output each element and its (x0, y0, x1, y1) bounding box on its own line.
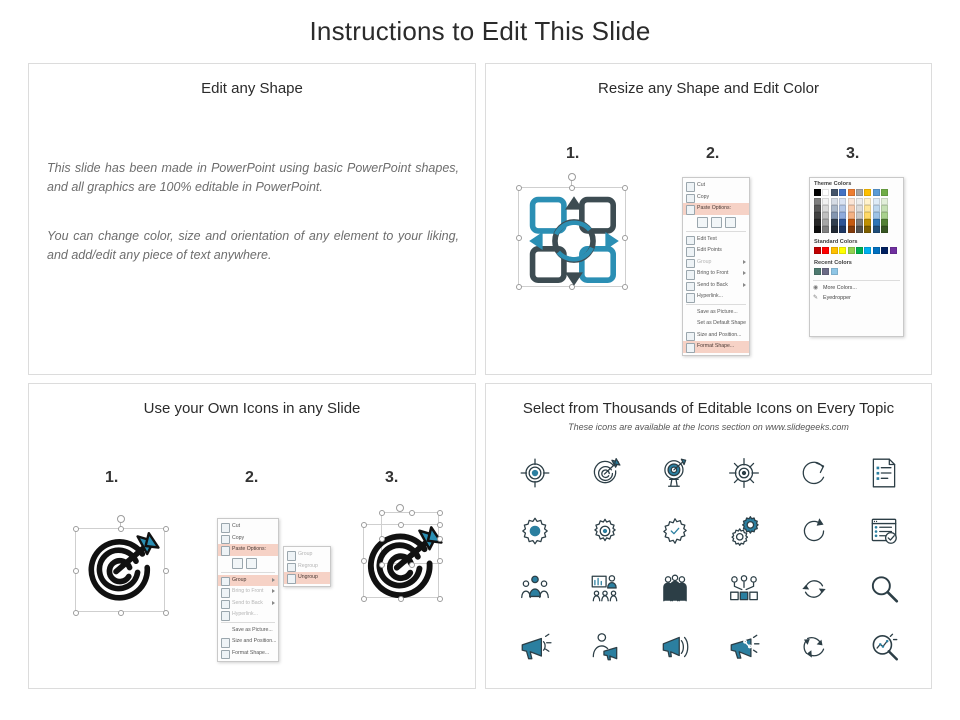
theme-shade-3-0[interactable] (839, 198, 846, 205)
edit-shape-paragraph-2: You can change color, size and orientati… (47, 227, 459, 266)
theme-shade-8-3[interactable] (881, 219, 888, 226)
standard-swatch-8[interactable] (881, 247, 888, 254)
resize-handle-s[interactable] (118, 610, 124, 616)
edit-text-icon (686, 236, 696, 246)
chevron-right-icon (272, 578, 275, 582)
chevron-right-icon (743, 283, 746, 287)
resize-step-number-3: 3. (846, 145, 859, 163)
menu-item-paste-options[interactable]: Paste Options: (218, 544, 278, 556)
eyedropper-icon: ✎ (813, 294, 818, 301)
size-position-icon (686, 332, 696, 342)
recent-colors-label: Recent Colors (814, 260, 903, 266)
refresh-circle-icon[interactable] (779, 502, 849, 560)
gear-check-icon[interactable] (640, 502, 710, 560)
theme-shade-7-1[interactable] (873, 205, 880, 212)
theme-shade-3-2[interactable] (839, 212, 846, 219)
standard-swatch-1[interactable] (822, 247, 829, 254)
menu-item-cut[interactable]: Cut (683, 180, 749, 192)
bring-front-icon (221, 588, 231, 598)
gear-dot-icon[interactable] (570, 502, 640, 560)
resize-handle-e[interactable] (437, 558, 443, 564)
send-back-icon (686, 282, 696, 292)
theme-shade-1-1[interactable] (822, 205, 829, 212)
theme-shade-1-0[interactable] (822, 198, 829, 205)
theme-shade-2-0[interactable] (831, 198, 838, 205)
crosshair-scope-icon[interactable] (710, 444, 780, 502)
theme-shade-7-3[interactable] (873, 219, 880, 226)
menu-item-bring-to-front: Bring to Front (218, 586, 278, 598)
panel-subheading-icon-library: These icons are available at the Icons s… (486, 422, 931, 432)
menu-item-set-default-shape[interactable]: Set as Default Shape (683, 318, 749, 330)
four-squares-rotate-shape-icon (518, 185, 630, 297)
menu-item-size-and-position[interactable]: Size and Position... (683, 330, 749, 342)
standard-swatch-9[interactable] (890, 247, 897, 254)
theme-shade-8-4[interactable] (881, 226, 888, 233)
theme-swatch-3[interactable] (839, 189, 846, 196)
chevron-right-icon (743, 271, 746, 275)
theme-shade-4-2[interactable] (848, 212, 855, 219)
menu-item-edit-text[interactable]: Edit Text (683, 234, 749, 246)
theme-shade-column-1[interactable] (822, 198, 829, 233)
resize-handle-ne[interactable] (437, 522, 443, 528)
icon-library-grid (500, 444, 919, 676)
menu-item-hyperlink: Hyperlink... (218, 609, 278, 621)
resize-handle-b-e[interactable] (437, 536, 443, 542)
size-position-icon (221, 638, 231, 648)
format-shape-icon (686, 343, 696, 353)
theme-shade-8-0[interactable] (881, 198, 888, 205)
submenu-item-group: Group (284, 549, 330, 561)
chevron-right-icon (272, 601, 275, 605)
resize-step-number-1: 1. (566, 145, 579, 163)
theme-shade-8-1[interactable] (881, 205, 888, 212)
recent-colors-row[interactable] (814, 268, 903, 275)
hyperlink-icon (686, 293, 696, 303)
theme-swatch-7[interactable] (873, 189, 880, 196)
paste-picture-icon[interactable] (711, 217, 722, 228)
resize-handle-ne[interactable] (163, 526, 169, 532)
two-arrow-cycle-icon[interactable] (779, 560, 849, 618)
resize-handle-b-ne[interactable] (437, 510, 443, 516)
theme-swatch-5[interactable] (856, 189, 863, 196)
theme-shade-0-4[interactable] (814, 226, 821, 233)
menu-item-edit-points[interactable]: Edit Points (683, 245, 749, 257)
format-shape-icon (221, 650, 231, 660)
theme-shade-5-1[interactable] (856, 205, 863, 212)
group-icon (221, 577, 231, 587)
paste-option-buttons[interactable] (683, 215, 749, 230)
copy-icon (221, 535, 231, 545)
theme-shade-3-1[interactable] (839, 205, 846, 212)
theme-shade-4-1[interactable] (848, 205, 855, 212)
theme-swatch-0[interactable] (814, 189, 821, 196)
theme-shade-column-8[interactable] (881, 198, 888, 233)
menu-item-send-to-back[interactable]: Send to Back (683, 280, 749, 292)
theme-shade-0-0[interactable] (814, 198, 821, 205)
menu-item-bring-to-front[interactable]: Bring to Front (683, 268, 749, 280)
theme-shade-7-4[interactable] (873, 226, 880, 233)
theme-shade-6-4[interactable] (864, 226, 871, 233)
rotate-handle[interactable] (117, 515, 125, 523)
checklist-document-icon[interactable] (849, 444, 919, 502)
resize-handle-e[interactable] (163, 568, 169, 574)
redo-arrow-icon[interactable] (779, 444, 849, 502)
resize-handle-w[interactable] (361, 558, 367, 564)
theme-shade-1-4[interactable] (822, 226, 829, 233)
resize-handle-b-n[interactable] (409, 510, 415, 516)
panel-heading-resize-shape: Resize any Shape and Edit Color (486, 80, 931, 97)
resize-handle-b-nw[interactable] (379, 510, 385, 516)
icons-step-number-3: 3. (385, 469, 398, 487)
target-crosshair-filled-icon[interactable] (500, 444, 570, 502)
chevron-right-icon (743, 260, 746, 264)
loudspeaker-icon[interactable] (640, 618, 710, 676)
resize-handle-b-w[interactable] (379, 536, 385, 542)
theme-colors-shade-grid[interactable] (814, 198, 903, 233)
theme-shade-1-2[interactable] (822, 212, 829, 219)
resize-handle-w[interactable] (73, 568, 79, 574)
resize-handle-se[interactable] (437, 596, 443, 602)
theme-swatch-8[interactable] (881, 189, 888, 196)
menu-item-copy[interactable]: Copy (218, 533, 278, 545)
dartboard-arrow-icon (80, 530, 160, 610)
hyperlink-icon (221, 611, 231, 621)
theme-colors-label: Theme Colors (814, 181, 903, 187)
standard-colors-row[interactable] (814, 247, 903, 254)
standard-swatch-6[interactable] (864, 247, 871, 254)
resize-handle-s[interactable] (398, 596, 404, 602)
theme-shade-2-3[interactable] (831, 219, 838, 226)
menu-divider (221, 622, 275, 623)
menu-divider (221, 572, 275, 573)
three-arrow-cycle-icon[interactable] (779, 618, 849, 676)
theme-shade-2-1[interactable] (831, 205, 838, 212)
menu-item-send-to-back: Send to Back (218, 598, 278, 610)
submenu-item-ungroup[interactable]: Ungroup (284, 572, 330, 584)
bring-front-icon (686, 270, 696, 280)
standard-swatch-5[interactable] (856, 247, 863, 254)
page-title: Instructions to Edit This Slide (0, 16, 960, 47)
target-stand-arrow-icon[interactable] (640, 444, 710, 502)
theme-shade-5-4[interactable] (856, 226, 863, 233)
resize-handle-sw[interactable] (361, 596, 367, 602)
magnifier-icon[interactable] (849, 560, 919, 618)
panel-use-own-icons: Use your Own Icons in any Slide 1. 2. 3. (28, 383, 476, 689)
theme-shade-column-5[interactable] (856, 198, 863, 233)
menu-item-copy[interactable]: Copy (683, 192, 749, 204)
theme-swatch-2[interactable] (831, 189, 838, 196)
theme-colors-base-row[interactable] (814, 189, 903, 196)
panel-heading-icon-library: Select from Thousands of Editable Icons … (486, 400, 931, 417)
theme-shade-2-4[interactable] (831, 226, 838, 233)
menu-item-group: Group (683, 257, 749, 269)
ungroup-icon (287, 574, 297, 584)
theme-swatch-6[interactable] (864, 189, 871, 196)
theme-shade-column-3[interactable] (839, 198, 846, 233)
magnifier-chart-icon[interactable] (849, 618, 919, 676)
resize-handle-nw[interactable] (73, 526, 79, 532)
standard-colors-label: Standard Colors (814, 239, 903, 245)
person-megaphone-icon[interactable] (570, 618, 640, 676)
regroup-icon (287, 563, 297, 573)
theme-shade-6-2[interactable] (864, 212, 871, 219)
copy-icon (686, 194, 696, 204)
resize-handle-se[interactable] (163, 610, 169, 616)
menu-item-group[interactable]: Group (218, 575, 278, 587)
rotate-handle[interactable] (396, 504, 404, 512)
theme-shade-6-1[interactable] (864, 205, 871, 212)
theme-shade-column-7[interactable] (873, 198, 880, 233)
menu-item-cut[interactable]: Cut (218, 521, 278, 533)
team-group-icon[interactable] (500, 560, 570, 618)
theme-shade-0-2[interactable] (814, 212, 821, 219)
chevron-right-icon (272, 589, 275, 593)
own-icons-step1-wrapper[interactable] (71, 516, 171, 616)
resize-handle-b-s[interactable] (409, 562, 415, 568)
team-network-icon[interactable] (710, 560, 780, 618)
menu-item-format-shape[interactable]: Format Shape... (218, 648, 278, 660)
theme-shade-6-0[interactable] (864, 198, 871, 205)
dartboard-arrow-icon[interactable] (570, 444, 640, 502)
theme-shade-3-4[interactable] (839, 226, 846, 233)
recent-swatch-2[interactable] (831, 268, 838, 275)
group-icon (287, 551, 297, 561)
standard-swatch-3[interactable] (839, 247, 846, 254)
group-submenu[interactable]: Group Regroup Ungroup (283, 546, 331, 587)
megaphone-icon[interactable] (500, 618, 570, 676)
paste-option-buttons[interactable] (218, 556, 278, 571)
send-back-icon (221, 600, 231, 610)
scissors-icon (686, 182, 696, 192)
rotate-handle[interactable] (568, 173, 576, 181)
context-menu-shape[interactable]: Cut Copy Paste Options: Edit Text Edit P… (682, 177, 750, 356)
theme-shade-4-3[interactable] (848, 219, 855, 226)
menu-divider (813, 280, 900, 281)
resize-handle-nw[interactable] (361, 522, 367, 528)
document-check-list-icon[interactable] (849, 502, 919, 560)
theme-shade-2-2[interactable] (831, 212, 838, 219)
recent-swatch-1[interactable] (822, 268, 829, 275)
resize-handle-n[interactable] (398, 522, 404, 528)
theme-shade-column-0[interactable] (814, 198, 821, 233)
standard-swatch-7[interactable] (873, 247, 880, 254)
theme-shade-0-3[interactable] (814, 219, 821, 226)
theme-shade-3-3[interactable] (839, 219, 846, 226)
panel-heading-edit-shape: Edit any Shape (29, 80, 475, 97)
resize-handle-sw[interactable] (73, 610, 79, 616)
panel-edit-any-shape: Edit any Shape This slide has been made … (28, 63, 476, 375)
theme-shade-column-6[interactable] (864, 198, 871, 233)
recent-swatch-0[interactable] (814, 268, 821, 275)
double-gear-icon[interactable] (710, 502, 780, 560)
theme-shade-0-1[interactable] (814, 205, 821, 212)
theme-shade-5-2[interactable] (856, 212, 863, 219)
paste-text-only-icon[interactable] (725, 217, 736, 228)
icons-step-number-1: 1. (105, 469, 118, 487)
group-icon (686, 259, 696, 269)
standard-swatch-2[interactable] (831, 247, 838, 254)
resize-step1-shape-wrapper[interactable] (516, 179, 628, 291)
more-colors-button[interactable]: ◉More Colors... (810, 283, 903, 293)
theme-shade-column-2[interactable] (831, 198, 838, 233)
menu-item-save-as-picture[interactable]: Save as Picture... (683, 307, 749, 319)
theme-swatch-4[interactable] (848, 189, 855, 196)
menu-item-paste-options[interactable]: Paste Options: (683, 203, 749, 215)
standard-swatch-4[interactable] (848, 247, 855, 254)
paste-icon (686, 205, 696, 215)
icons-step-number-2: 2. (245, 469, 258, 487)
theme-swatch-1[interactable] (822, 189, 829, 196)
gear-filled-icon[interactable] (500, 502, 570, 560)
color-picker-panel[interactable]: Theme Colors Standard Colors Recent Colo… (809, 177, 904, 337)
paste-picture-icon[interactable] (246, 558, 257, 569)
own-icons-step3-wrapper[interactable] (351, 508, 461, 616)
panel-icon-library: Select from Thousands of Editable Icons … (485, 383, 932, 689)
resize-step-number-2: 2. (706, 145, 719, 163)
menu-item-save-as-picture[interactable]: Save as Picture... (218, 625, 278, 637)
standard-swatch-0[interactable] (814, 247, 821, 254)
menu-divider (686, 304, 746, 305)
theme-shade-8-2[interactable] (881, 212, 888, 219)
eyedropper-button[interactable]: ✎Eyedropper (810, 293, 903, 303)
theme-shade-column-4[interactable] (848, 198, 855, 233)
megaphone-percent-icon[interactable] (710, 618, 780, 676)
menu-item-format-shape[interactable]: Format Shape... (683, 341, 749, 353)
theme-shade-7-2[interactable] (873, 212, 880, 219)
theme-shade-1-3[interactable] (822, 219, 829, 226)
submenu-item-regroup: Regroup (284, 561, 330, 573)
paste-keep-formatting-icon[interactable] (697, 217, 708, 228)
resize-handle-b-sw[interactable] (379, 562, 385, 568)
people-standing-icon[interactable] (640, 560, 710, 618)
theme-shade-6-3[interactable] (864, 219, 871, 226)
paste-keep-formatting-icon[interactable] (232, 558, 243, 569)
menu-item-hyperlink[interactable]: Hyperlink... (683, 291, 749, 303)
edit-shape-paragraph-1: This slide has been made in PowerPoint u… (47, 159, 459, 198)
theme-shade-5-0[interactable] (856, 198, 863, 205)
panel-resize-shape-edit-color: Resize any Shape and Edit Color 1. 2. 3. (485, 63, 932, 375)
panel-heading-own-icons: Use your Own Icons in any Slide (29, 400, 475, 417)
menu-item-size-and-position[interactable]: Size and Position... (218, 636, 278, 648)
scissors-icon (221, 523, 231, 533)
edit-points-icon (686, 247, 696, 257)
presentation-audience-icon[interactable] (570, 560, 640, 618)
slide-canvas: Instructions to Edit This Slide Edit any… (0, 0, 960, 720)
theme-shade-4-4[interactable] (848, 226, 855, 233)
paste-icon (221, 546, 231, 556)
theme-shade-5-3[interactable] (856, 219, 863, 226)
palette-icon: ◉ (813, 284, 818, 291)
theme-shade-7-0[interactable] (873, 198, 880, 205)
menu-divider (686, 231, 746, 232)
theme-shade-4-0[interactable] (848, 198, 855, 205)
context-menu-icon-group[interactable]: Cut Copy Paste Options: Group Bring to F… (217, 518, 279, 662)
